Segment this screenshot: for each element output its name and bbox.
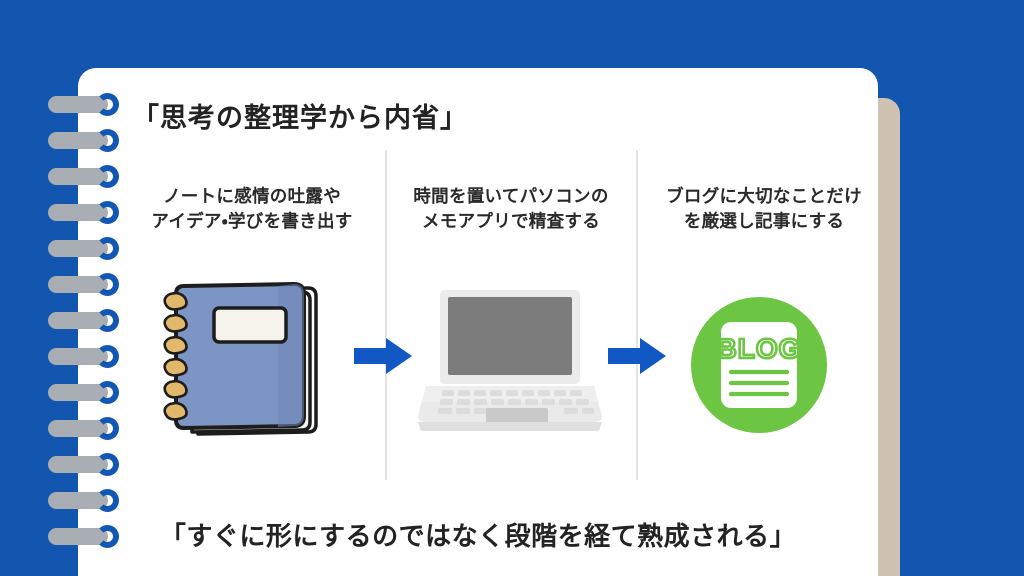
spiral-ring-loop: [96, 309, 119, 332]
spiral-ring: [48, 456, 122, 473]
spiral-notebook-icon: [158, 272, 344, 444]
step-3-heading: ブログに大切なことだけ を厳選し記事にする: [644, 184, 884, 234]
column-divider-1: [385, 150, 387, 480]
slide-canvas: 「思考の整理学から内省」 ノートに感情の吐露や アイデア・学びを書き出す 時間を…: [0, 0, 1024, 576]
spiral-binding: [0, 96, 140, 566]
blog-badge-label: BLOG: [717, 333, 802, 364]
step-1-heading-line1: ノートに感情の吐露や: [163, 186, 341, 206]
spiral-ring-loop: [96, 345, 119, 368]
laptop-icon: [412, 282, 608, 434]
spiral-ring: [48, 348, 122, 365]
spiral-ring: [48, 420, 122, 437]
spiral-ring-loop: [96, 489, 119, 512]
spiral-ring-loop: [96, 453, 119, 476]
spiral-ring-loop: [96, 165, 119, 188]
spiral-ring-loop: [96, 201, 119, 224]
arrow-2-icon: [606, 336, 668, 376]
spiral-ring: [48, 132, 122, 149]
spiral-ring-loop: [96, 237, 119, 260]
column-divider-2: [636, 150, 638, 480]
step-3-heading-line1: ブログに大切なことだけ: [666, 186, 862, 206]
spiral-ring: [48, 168, 122, 185]
spiral-ring: [48, 312, 122, 329]
page-title: 「思考の整理学から内省」: [132, 96, 468, 135]
spiral-ring-loop: [96, 273, 119, 296]
step-2-heading: 時間を置いてパソコンの メモアプリで精査する: [392, 184, 630, 234]
spiral-ring: [48, 384, 122, 401]
spiral-ring-loop: [96, 93, 119, 116]
spiral-ring-loop: [96, 129, 119, 152]
spiral-ring: [48, 276, 122, 293]
spiral-ring: [48, 96, 122, 113]
spiral-ring: [48, 492, 122, 509]
spiral-ring: [48, 204, 122, 221]
blog-badge-icon: BLOG: [690, 296, 828, 434]
step-2-heading-line1: 時間を置いてパソコンの: [413, 186, 608, 206]
spiral-ring-loop: [96, 381, 119, 404]
step-3-heading-line2: を厳選し記事にする: [684, 211, 844, 231]
step-column-1: ノートに感情の吐露や アイデア・学びを書き出す: [126, 184, 378, 234]
step-1-heading: ノートに感情の吐露や アイデア・学びを書き出す: [126, 184, 378, 234]
spiral-ring: [48, 240, 122, 257]
step-column-3: ブログに大切なことだけ を厳選し記事にする: [644, 184, 884, 234]
step-2-heading-line2: メモアプリで精査する: [422, 211, 600, 231]
arrow-1-icon: [352, 336, 414, 376]
footer-quote: 「すぐに形にするのではなく段階を経て熟成される」: [78, 516, 878, 553]
step-column-2: 時間を置いてパソコンの メモアプリで精査する: [392, 184, 630, 234]
step-1-heading-line2: アイデア・学びを書き出す: [151, 211, 352, 231]
spiral-ring-loop: [96, 417, 119, 440]
